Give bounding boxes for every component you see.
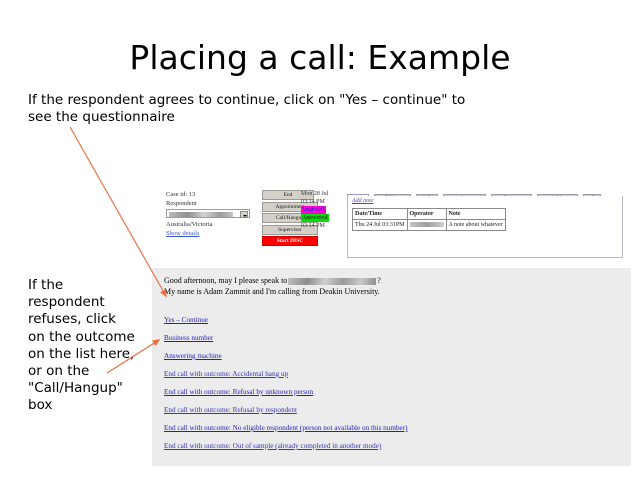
column-note: Note (446, 209, 505, 220)
voip-status-badge: VoIP Off (301, 206, 326, 214)
link-yes-continue[interactable]: Yes – Continue (164, 316, 208, 324)
notes-table: Date/Time Operator Note Thu 24 Jul 03:31… (352, 208, 506, 231)
script-line-2: My name is Adam Zammit and I'm calling f… (164, 287, 380, 296)
status-time-bottom: 03:14 PM (301, 222, 345, 230)
respondent-label: Respondent (166, 200, 197, 207)
script-line-1: Good afternoon, may I please speak to? (164, 276, 381, 285)
redacted-name-bar (169, 212, 233, 217)
call-state-badge: Answered (301, 214, 329, 222)
case-id-label: Case id: 13 (166, 191, 195, 198)
notes-panel: Notes Call history Shifts Appointments P… (345, 185, 627, 265)
link-accidental-hangup[interactable]: End call with outcome: Accidental hang u… (164, 370, 288, 378)
link-refusal-unknown-person[interactable]: End call with outcome: Refusal by unknow… (164, 388, 313, 396)
link-out-of-sample[interactable]: End call with outcome: Out of sample (al… (164, 442, 381, 450)
cell-note: A note about whatever (446, 220, 505, 231)
column-datetime: Date/Time (353, 209, 408, 220)
callout-text-left: If the respondent refuses, click on the … (28, 277, 136, 415)
app-header-area: Case id: 13 Respondent Australia/Victori… (152, 184, 631, 268)
cell-operator (407, 220, 446, 231)
table-header-row: Date/Time Operator Note (353, 209, 506, 220)
call-status-column: Mon 28 Jul 03:14 PM VoIP Off Answered 03… (301, 190, 345, 230)
column-operator: Operator (407, 209, 446, 220)
app-script-area: Good afternoon, may I please speak to? M… (152, 268, 631, 466)
link-answering-machine[interactable]: Answering machine (164, 352, 222, 360)
cell-datetime: Thu 24 Jul 03:31PM (353, 220, 408, 231)
callout-text-top: If the respondent agrees to continue, cl… (28, 92, 468, 126)
respondent-select[interactable] (166, 209, 250, 218)
start-disc-button[interactable]: Start DISC (262, 236, 318, 246)
link-business-number[interactable]: Business number (164, 334, 213, 342)
notes-panel-body: Add note Date/Time Operator Note Thu 24 … (347, 196, 623, 258)
show-details-link[interactable]: Show details (166, 230, 199, 237)
script-line-1-before: Good afternoon, may I please speak to (164, 276, 287, 285)
script-line-1-after: ? (377, 276, 381, 285)
status-time-top: 03:14 PM (301, 198, 345, 206)
redacted-operator-bar (410, 222, 444, 227)
timezone-label: Australia/Victoria (166, 221, 213, 228)
chevron-down-icon[interactable] (240, 211, 248, 218)
case-info-panel: Case id: 13 Respondent Australia/Victori… (158, 188, 344, 258)
redacted-respondent-name (288, 278, 376, 285)
status-date: Mon 28 Jul (301, 190, 345, 198)
table-row[interactable]: Thu 24 Jul 03:31PM A note about whatever (353, 220, 506, 231)
page-title: Placing a call: Example (0, 38, 640, 77)
link-refusal-respondent[interactable]: End call with outcome: Refusal by respon… (164, 406, 297, 414)
link-no-eligible-respondent[interactable]: End call with outcome: No eligible respo… (164, 424, 408, 432)
add-note-link[interactable]: Add note (352, 198, 374, 204)
